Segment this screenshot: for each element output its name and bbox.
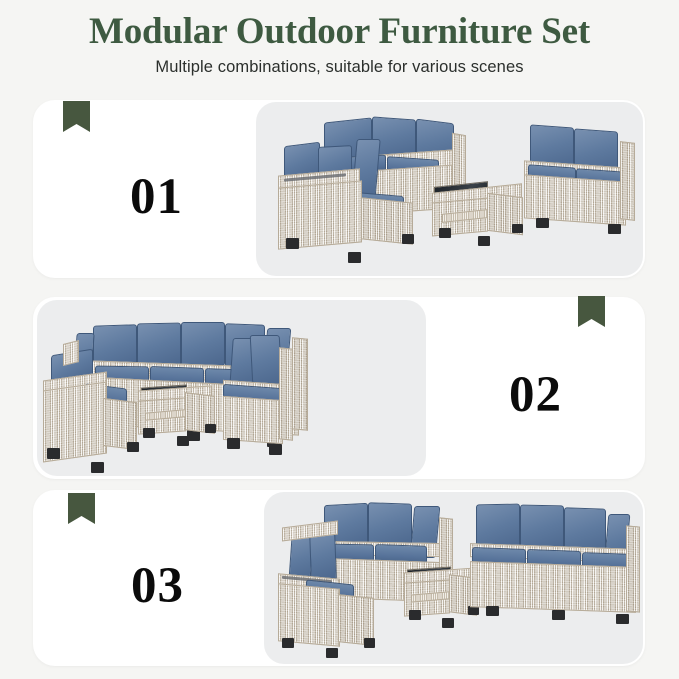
page-title: Modular Outdoor Furniture Set bbox=[0, 10, 679, 53]
combination-card-03[interactable]: 03 bbox=[33, 490, 645, 666]
card-number-02: 02 bbox=[509, 370, 562, 421]
bookmark-flag-icon bbox=[68, 493, 95, 524]
combination-card-02[interactable]: 02 bbox=[33, 297, 645, 479]
bookmark-flag-icon bbox=[578, 296, 605, 327]
furniture-photo-01 bbox=[256, 102, 643, 276]
card-number-03: 03 bbox=[131, 561, 184, 612]
combination-card-01[interactable]: 01 bbox=[33, 100, 645, 278]
bookmark-flag-icon bbox=[63, 101, 90, 132]
furniture-photo-03 bbox=[264, 492, 643, 664]
card-number-01: 01 bbox=[130, 172, 183, 223]
page-subtitle: Multiple combinations, suitable for vari… bbox=[0, 58, 679, 77]
furniture-photo-02 bbox=[37, 300, 426, 476]
furniture-scene-03 bbox=[264, 492, 643, 664]
poster-root: Modular Outdoor Furniture Set Multiple c… bbox=[0, 0, 679, 679]
furniture-scene-01 bbox=[256, 102, 643, 276]
furniture-scene-02 bbox=[37, 300, 426, 476]
